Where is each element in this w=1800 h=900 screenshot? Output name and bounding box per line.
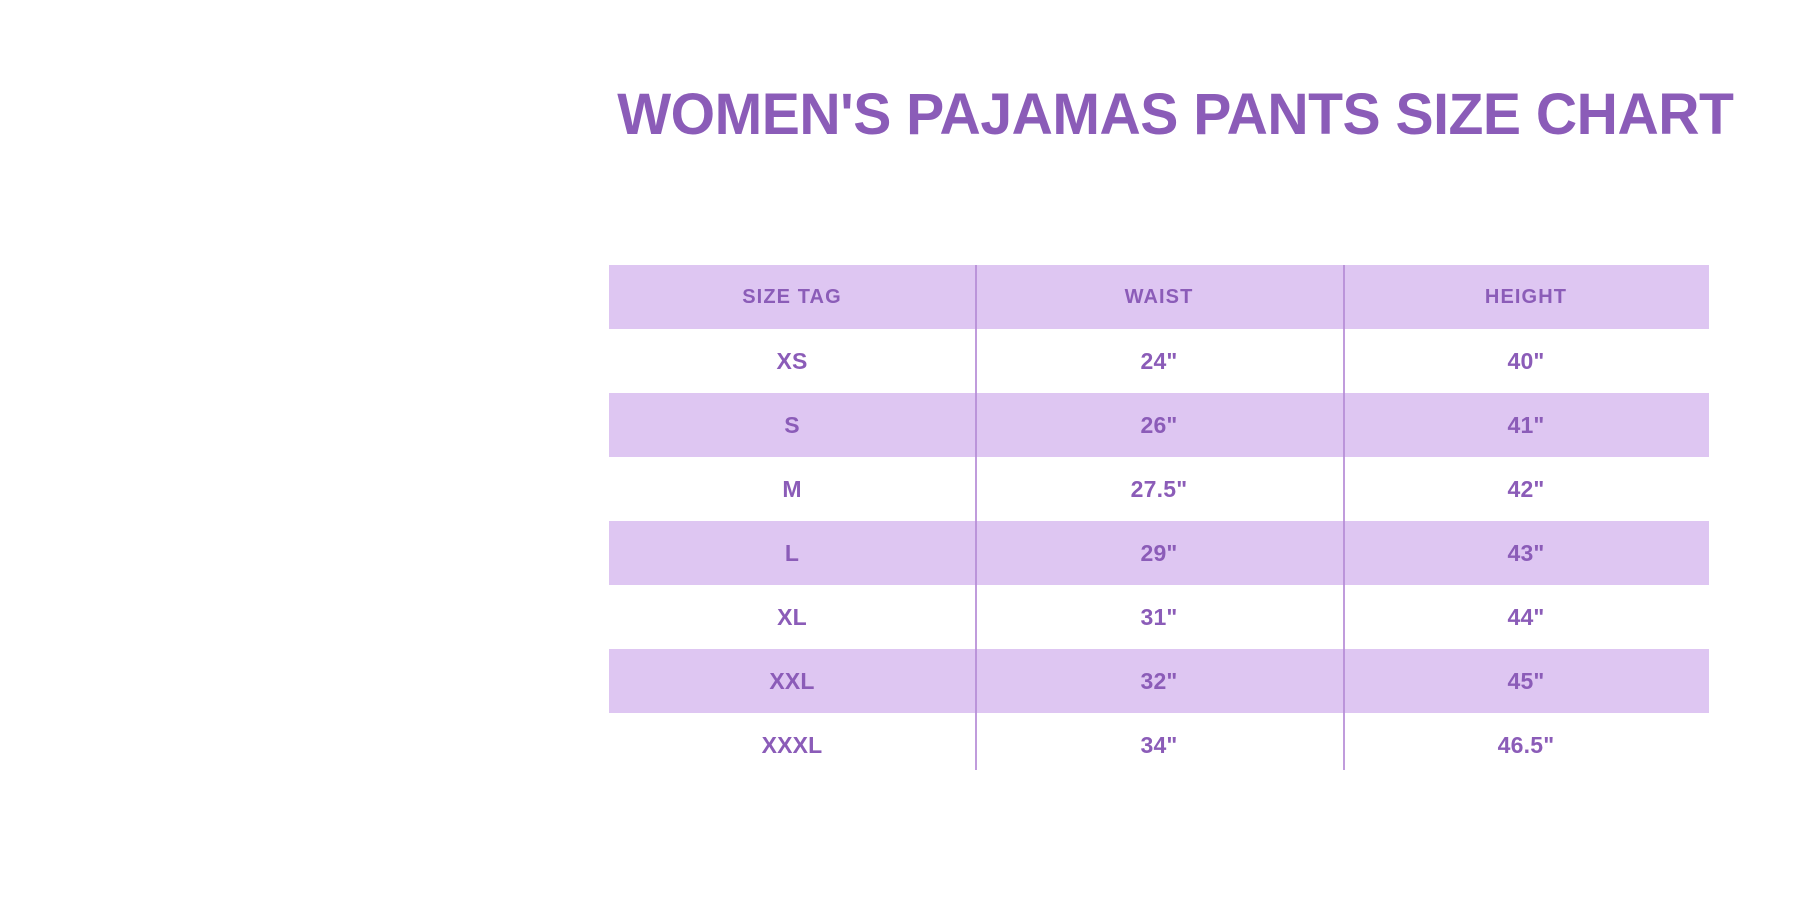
cell-size-tag: XL: [609, 585, 975, 649]
size-chart-table: SIZE TAG WAIST HEIGHT XS 24" 40" S 26" 4…: [609, 265, 1709, 777]
cell-size-tag: XXXL: [609, 713, 975, 777]
cell-waist: 32": [975, 649, 1343, 713]
page-title: WOMEN'S PAJAMAS PANTS SIZE CHART: [617, 84, 1701, 146]
cell-size-tag: XXL: [609, 649, 975, 713]
table-row: S 26" 41": [609, 393, 1709, 457]
size-chart-page: WOMEN'S PAJAMAS PANTS SIZE CHART SIZE TA…: [0, 0, 1800, 900]
column-header-waist: WAIST: [975, 265, 1343, 329]
cell-waist: 24": [975, 329, 1343, 393]
cell-size-tag: L: [609, 521, 975, 585]
table-body: XS 24" 40" S 26" 41" M 27.5" 42" L 29" 4…: [609, 329, 1709, 777]
cell-waist: 27.5": [975, 457, 1343, 521]
table-row: XL 31" 44": [609, 585, 1709, 649]
column-divider-2: [1343, 265, 1345, 770]
cell-height: 42": [1343, 457, 1709, 521]
table-row: XXXL 34" 46.5": [609, 713, 1709, 777]
cell-size-tag: XS: [609, 329, 975, 393]
cell-height: 45": [1343, 649, 1709, 713]
cell-height: 44": [1343, 585, 1709, 649]
column-header-height: HEIGHT: [1343, 265, 1709, 329]
table-row: L 29" 43": [609, 521, 1709, 585]
table-row: M 27.5" 42": [609, 457, 1709, 521]
cell-height: 43": [1343, 521, 1709, 585]
column-divider-1: [975, 265, 977, 770]
table-header-row: SIZE TAG WAIST HEIGHT: [609, 265, 1709, 329]
cell-waist: 31": [975, 585, 1343, 649]
table-header: SIZE TAG WAIST HEIGHT: [609, 265, 1709, 329]
cell-size-tag: S: [609, 393, 975, 457]
cell-waist: 26": [975, 393, 1343, 457]
cell-waist: 29": [975, 521, 1343, 585]
column-header-size-tag: SIZE TAG: [609, 265, 975, 329]
cell-height: 40": [1343, 329, 1709, 393]
table-row: XS 24" 40": [609, 329, 1709, 393]
cell-height: 46.5": [1343, 713, 1709, 777]
cell-height: 41": [1343, 393, 1709, 457]
table-row: XXL 32" 45": [609, 649, 1709, 713]
cell-waist: 34": [975, 713, 1343, 777]
cell-size-tag: M: [609, 457, 975, 521]
